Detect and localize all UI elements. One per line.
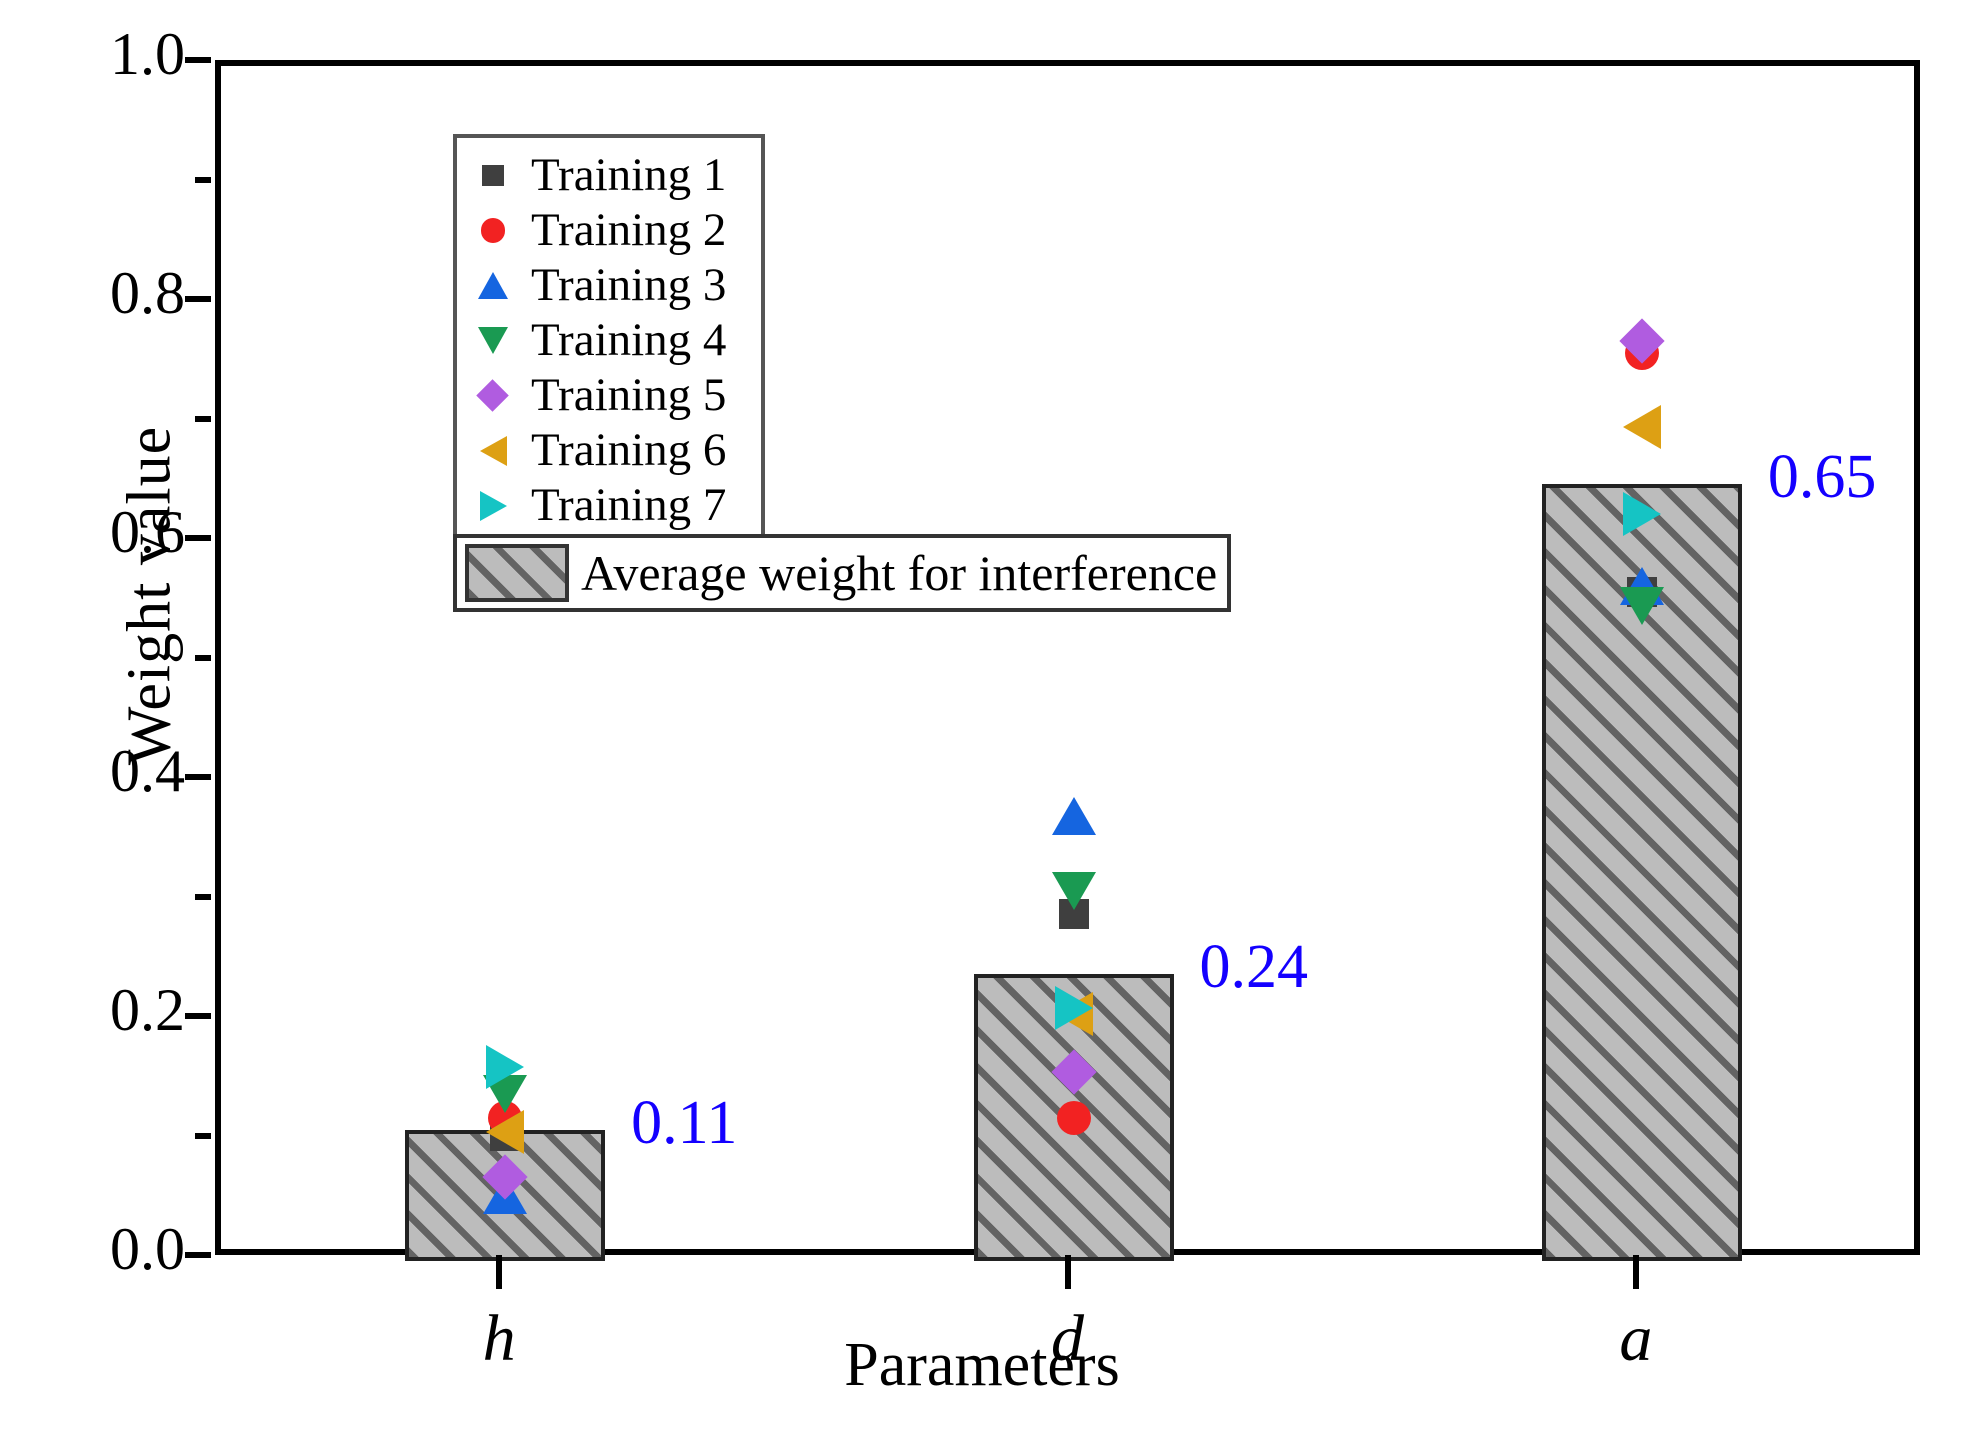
legend-item-2[interactable]: Training 2 <box>463 203 755 258</box>
y-tick-label: 0.6 <box>25 502 185 562</box>
x-tick-mark <box>496 1255 502 1289</box>
x-axis-title: Parameters <box>0 1330 1964 1401</box>
legend-series[interactable]: Training 1Training 2Training 3Training 4… <box>453 134 765 545</box>
data-point-marker <box>1623 492 1661 536</box>
y-minor-tick-mark <box>195 416 211 422</box>
y-tick-label: 0.0 <box>25 1219 185 1279</box>
legend-item-1[interactable]: Training 1 <box>463 148 755 203</box>
y-tick-mark <box>185 57 211 63</box>
legend-item-6[interactable]: Training 6 <box>463 423 755 478</box>
triangle-left-icon <box>463 436 523 466</box>
legend-item-3[interactable]: Training 3 <box>463 258 755 313</box>
data-point-marker <box>1055 986 1093 1030</box>
square-icon <box>463 165 523 187</box>
y-tick-label: 0.2 <box>25 980 185 1040</box>
y-minor-tick-mark <box>195 177 211 183</box>
y-minor-tick-mark <box>195 655 211 661</box>
legend-item-label: Training 3 <box>523 262 726 309</box>
diamond-icon <box>463 384 523 407</box>
chart-figure: Weight value 1.00.80.60.40.20.0 0.110.24… <box>0 0 1964 1440</box>
y-tick-label: 0.4 <box>25 741 185 801</box>
data-point-marker <box>1052 872 1096 910</box>
data-point-marker <box>486 1045 524 1089</box>
y-minor-tick-mark <box>195 894 211 900</box>
legend-item-label: Training 7 <box>523 482 726 529</box>
legend-item-5[interactable]: Training 5 <box>463 368 755 423</box>
triangle-down-icon <box>463 327 523 354</box>
legend-average-label: Average weight for interference <box>569 548 1217 598</box>
bar-value-label: 0.65 <box>1768 442 1877 513</box>
bar-value-label: 0.11 <box>631 1088 737 1159</box>
y-tick-mark <box>185 1252 211 1258</box>
legend-item-4[interactable]: Training 4 <box>463 313 755 368</box>
data-point-marker <box>1057 1101 1091 1135</box>
legend-item-label: Training 4 <box>523 317 726 364</box>
legend-item-label: Training 1 <box>523 152 726 199</box>
plot-area: 0.110.240.65 Training 1Training 2Trainin… <box>215 60 1920 1255</box>
legend-average[interactable]: Average weight for interference <box>453 534 1231 612</box>
circle-icon <box>463 218 523 242</box>
data-point-marker <box>1620 587 1664 625</box>
legend-average-swatch <box>465 544 569 602</box>
y-tick-mark <box>185 1013 211 1019</box>
legend-item-label: Training 5 <box>523 372 726 419</box>
y-tick-mark <box>185 535 211 541</box>
legend-item-label: Training 6 <box>523 427 726 474</box>
x-tick-mark <box>1065 1255 1071 1289</box>
triangle-right-icon <box>463 491 523 521</box>
legend-item-label: Training 2 <box>523 207 726 254</box>
triangle-up-icon <box>463 272 523 299</box>
data-point-marker <box>486 1110 524 1154</box>
legend-item-7[interactable]: Training 7 <box>463 478 755 533</box>
y-tick-mark <box>185 296 211 302</box>
x-tick-mark <box>1633 1255 1639 1289</box>
y-tick-label: 1.0 <box>25 24 185 84</box>
data-point-marker <box>1052 797 1096 835</box>
data-point-marker <box>1623 405 1661 449</box>
y-minor-tick-mark <box>195 1133 211 1139</box>
y-tick-label: 0.8 <box>25 263 185 323</box>
bar-value-label: 0.24 <box>1200 932 1309 1003</box>
y-tick-mark <box>185 774 211 780</box>
